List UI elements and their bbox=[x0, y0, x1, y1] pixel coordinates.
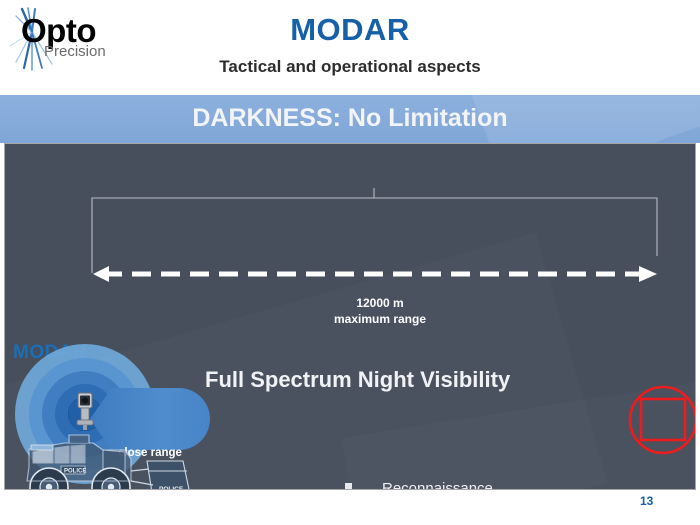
range-label: 12000 m maximum range bbox=[295, 296, 465, 327]
feature-list: Reconnaissance Identification Monitoring… bbox=[345, 480, 645, 490]
list-item-label: Reconnaissance bbox=[382, 480, 493, 490]
list-item: Reconnaissance bbox=[345, 480, 645, 490]
range-value: 12000 m bbox=[295, 296, 465, 312]
page-subtitle: Tactical and operational aspects bbox=[0, 57, 700, 77]
vehicle-marking-blade: POLICE bbox=[159, 486, 184, 490]
content-panel: 12000 m maximum range MODAR close range bbox=[4, 143, 696, 490]
range-caption: maximum range bbox=[295, 312, 465, 328]
section-banner-title: DARKNESS: No Limitation bbox=[0, 104, 700, 133]
target-marker-icon bbox=[627, 384, 696, 456]
armored-police-vehicle-icon: POLICE POLICE bbox=[7, 419, 207, 490]
vehicle-marking-side: POLICE bbox=[64, 469, 86, 475]
slide-root: Opto Precision MODAR Tactical and operat… bbox=[0, 0, 700, 525]
bullet-square-icon bbox=[345, 483, 352, 490]
panel-headline: Full Spectrum Night Visibility bbox=[205, 367, 510, 393]
page-title: MODAR bbox=[0, 12, 700, 48]
section-banner: DARKNESS: No Limitation bbox=[0, 95, 700, 143]
page-number: 13 bbox=[640, 494, 653, 508]
